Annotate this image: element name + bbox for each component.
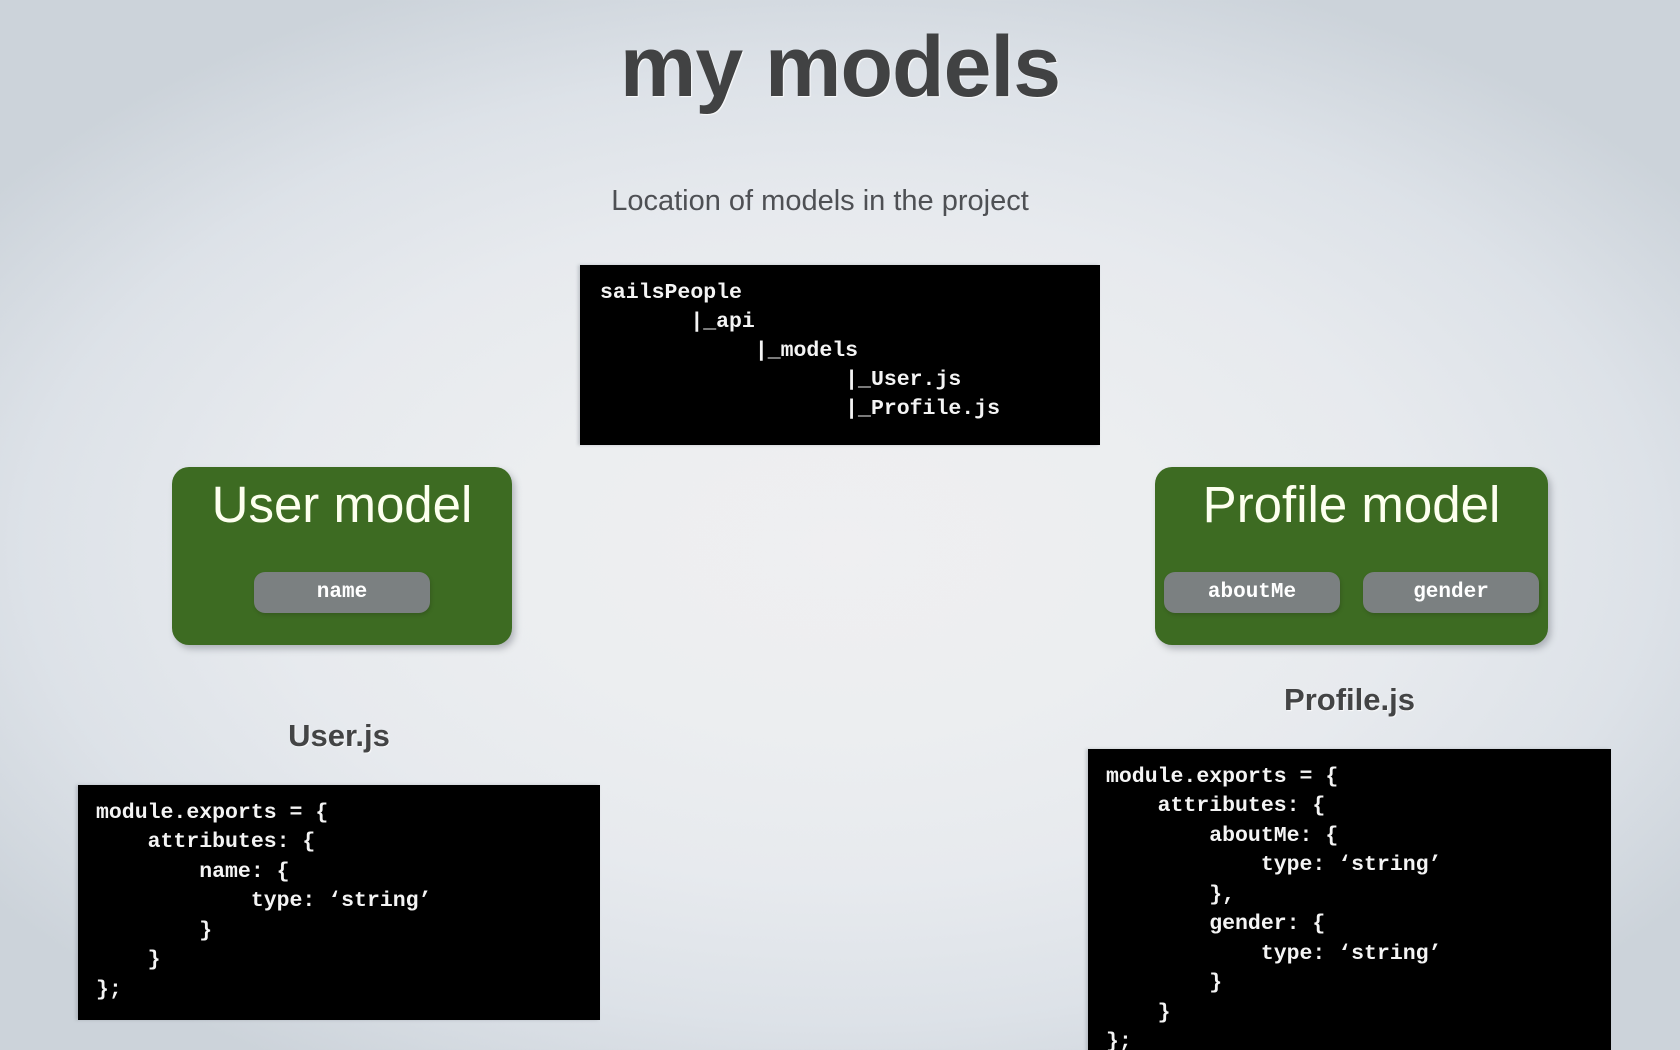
slide-canvas: my models Location of models in the proj… [0, 0, 1680, 1050]
profile-model-attribute-list: aboutMe gender [1155, 572, 1548, 613]
attribute-pill-aboutme: aboutMe [1164, 572, 1340, 613]
profile-model-card: Profile model aboutMe gender [1155, 467, 1548, 645]
project-tree-terminal: sailsPeople |_api |_models |_User.js |_P… [580, 265, 1100, 445]
profile-js-code: module.exports = { attributes: { aboutMe… [1088, 749, 1611, 1050]
attribute-pill-name: name [254, 572, 430, 613]
attribute-pill-gender: gender [1363, 572, 1539, 613]
user-model-attribute-list: name [172, 572, 512, 613]
user-js-code: module.exports = { attributes: { name: {… [78, 785, 600, 1020]
profile-js-caption: Profile.js [1088, 682, 1611, 718]
page-title: my models [0, 18, 1680, 117]
user-model-card: User model name [172, 467, 512, 645]
tree-subtitle: Location of models in the project [560, 185, 1080, 218]
user-js-caption: User.js [78, 718, 600, 754]
profile-model-title: Profile model [1155, 475, 1548, 534]
user-model-title: User model [172, 475, 512, 534]
